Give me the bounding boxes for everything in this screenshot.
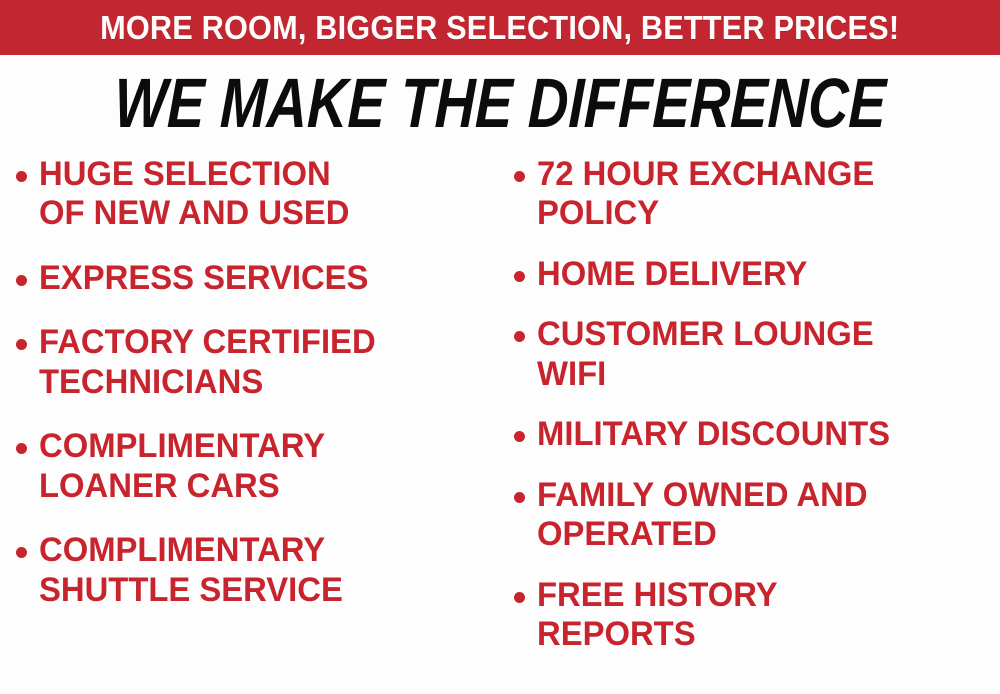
list-item: COMPLIMENTARY SHUTTLE SERVICE [16,531,496,610]
bullet-dot-icon [16,339,27,350]
list-item-label: FACTORY CERTIFIED TECHNICIANS [39,323,376,402]
list-item: 72 HOUR EXCHANGE POLICY [514,155,1000,234]
list-item-label: COMPLIMENTARY LOANER CARS [39,427,325,506]
list-item-label: HOME DELIVERY [537,255,807,294]
bullet-dot-icon [16,275,27,286]
bullet-dot-icon [16,547,27,558]
bullet-dot-icon [16,443,27,454]
list-item-label: EXPRESS SERVICES [39,259,368,298]
main-headline-text: WE MAKE THE DIFFERENCE [113,68,887,138]
bullet-dot-icon [514,492,525,503]
list-item: FACTORY CERTIFIED TECHNICIANS [16,323,496,402]
bullet-dot-icon [514,271,525,282]
benefits-column-left: HUGE SELECTION OF NEW AND USED EXPRESS S… [0,155,500,694]
main-headline: WE MAKE THE DIFFERENCE [0,68,1000,138]
list-item: MILITARY DISCOUNTS [514,415,1000,454]
benefits-column-right: 72 HOUR EXCHANGE POLICY HOME DELIVERY CU… [500,155,1000,694]
list-item: CUSTOMER LOUNGE WIFI [514,315,1000,394]
list-item: FAMILY OWNED AND OPERATED [514,476,1000,555]
banner-headline-text: MORE ROOM, BIGGER SELECTION, BETTER PRIC… [100,11,899,44]
list-item: EXPRESS SERVICES [16,259,496,298]
list-item-label: COMPLIMENTARY SHUTTLE SERVICE [39,531,343,610]
list-item-label: 72 HOUR EXCHANGE POLICY [537,155,874,234]
list-item-label: FAMILY OWNED AND OPERATED [537,476,868,555]
list-item: FREE HISTORY REPORTS [514,576,1000,655]
top-banner: MORE ROOM, BIGGER SELECTION, BETTER PRIC… [0,0,1000,55]
list-item: HOME DELIVERY [514,255,1000,294]
list-item-label: FREE HISTORY REPORTS [537,576,778,655]
bullet-dot-icon [514,592,525,603]
bullet-dot-icon [514,331,525,342]
list-item-label: CUSTOMER LOUNGE WIFI [537,315,874,394]
bullet-dot-icon [16,171,27,182]
promotional-poster: MORE ROOM, BIGGER SELECTION, BETTER PRIC… [0,0,1000,694]
list-item-label: HUGE SELECTION OF NEW AND USED [39,155,349,234]
bullet-dot-icon [514,171,525,182]
list-item: HUGE SELECTION OF NEW AND USED [16,155,496,234]
benefits-columns: HUGE SELECTION OF NEW AND USED EXPRESS S… [0,155,1000,694]
list-item-label: MILITARY DISCOUNTS [537,415,890,454]
list-item: COMPLIMENTARY LOANER CARS [16,427,496,506]
bullet-dot-icon [514,431,525,442]
